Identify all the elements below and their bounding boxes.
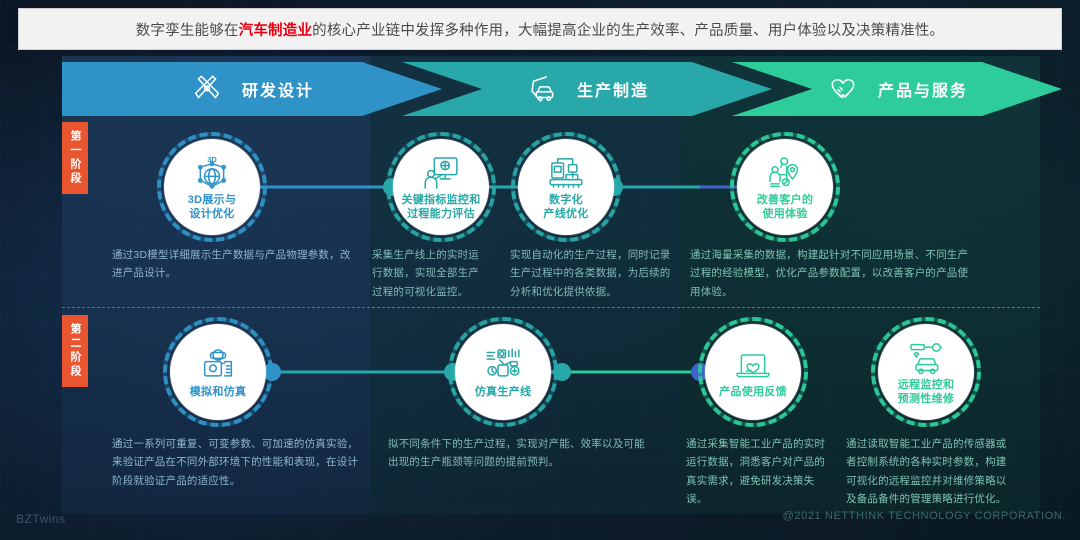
ribbon-label-research: 研发设计 (242, 77, 314, 101)
node-ring-dashed (157, 132, 267, 242)
ribbon-label-product-service: 产品与服务 (878, 77, 968, 101)
ribbon-stage-product-service[interactable]: 产品与服务 (732, 58, 1062, 120)
node-disc: 模拟和仿真 (170, 324, 266, 420)
desc-customer-experience: 通过海量采集的数据，构建起针对不同应用场景、不同生产过程的经验模型，优化产品参数… (690, 246, 978, 301)
phase-divider (62, 307, 1040, 308)
phase-tab-one[interactable]: 第一阶段 (62, 122, 88, 194)
slide-canvas: 数字孪生能够在汽车制造业的核心产业链中发挥多种作用，大幅提高企业的生产效率、产品… (0, 0, 1080, 540)
header-text: 数字孪生能够在汽车制造业的核心产业链中发挥多种作用，大幅提高企业的生产效率、产品… (136, 19, 945, 40)
header-text-after: 的核心产业链中发挥多种作用，大幅提高企业的生产效率、产品质量、用户体验以及决策精… (312, 23, 944, 39)
drafting-tools-icon (190, 72, 224, 106)
desc-simulation: 通过一系列可重复、可变参数、可加速的仿真实验，来验证产品在不同外部环境下的性能和… (112, 435, 362, 490)
stage-ribbon: 研发设计 生产制造 产品与服务 (62, 58, 1062, 120)
ribbon-stage-manufacturing[interactable]: 生产制造 (402, 58, 772, 120)
desc-simulated-production-line: 拟不同条件下的生产过程，实现对产能、效率以及可能出现的生产瓶颈等问题的提前预判。 (388, 435, 646, 472)
node-disc: 数字化 产线优化 (518, 139, 614, 235)
node-disc: 3D 3D展示与 设计优化 (164, 139, 260, 235)
node-disc: 关键指标监控和 过程能力评估 (393, 139, 489, 235)
ribbon-stage-research[interactable]: 研发设计 (62, 58, 442, 120)
node-disc: 产品使用反馈 (705, 324, 801, 420)
node-ring-dashed (698, 317, 808, 427)
ribbon-label-manufacturing: 生产制造 (577, 77, 649, 101)
node-ring-dashed (871, 317, 981, 427)
desc-digital-line: 实现自动化的生产过程，同时记录生产过程中的各类数据，为后续的分析和优化提供依据。 (510, 246, 678, 301)
node-product-feedback[interactable]: 产品使用反馈 (705, 324, 801, 420)
footer-brand: BZTwins (16, 512, 66, 526)
desc-3d-display: 通过3D模型详细展示生产数据与产品物理参数，改进产品设计。 (112, 246, 360, 283)
node-simulation[interactable]: 模拟和仿真 (170, 324, 266, 420)
node-disc: 远程监控和 预测性维修 (878, 324, 974, 420)
node-ring-dashed (730, 132, 840, 242)
handshake-heart-icon (826, 72, 860, 106)
desc-product-feedback: 通过采集智能工业产品的实时运行数据，洞悉客户对产品的真实需求，避免研发决策失误。 (686, 435, 832, 509)
car-shield-icon (525, 72, 559, 106)
node-digital-line[interactable]: 数字化 产线优化 (518, 139, 614, 235)
node-ring-dashed (163, 317, 273, 427)
node-disc: 仿真生产线 (455, 324, 551, 420)
node-3d-display[interactable]: 3D 3D展示与 设计优化 (164, 139, 260, 235)
node-ring-dashed (386, 132, 496, 242)
node-kpi-monitoring[interactable]: 关键指标监控和 过程能力评估 (393, 139, 489, 235)
footer-copyright: @2021 NETTHINK TECHNOLOGY CORPORATION. (783, 510, 1066, 522)
node-remote-maintenance[interactable]: 远程监控和 预测性维修 (878, 324, 974, 420)
header-text-before: 数字孪生能够在 (136, 23, 239, 39)
node-customer-experience[interactable]: 改善客户的 使用体验 (737, 139, 833, 235)
header-banner: 数字孪生能够在汽车制造业的核心产业链中发挥多种作用，大幅提高企业的生产效率、产品… (18, 8, 1062, 50)
node-ring-dashed (448, 317, 558, 427)
node-ring-dashed (511, 132, 621, 242)
desc-kpi-monitoring: 采集生产线上的实时运行数据，实现全部生产过程的可视化监控。 (372, 246, 488, 301)
node-disc: 改善客户的 使用体验 (737, 139, 833, 235)
header-highlight: 汽车制造业 (239, 23, 313, 39)
desc-remote-maintenance: 通过读取智能工业产品的传感器或者控制系统的各种实时参数，构建可视化的远程监控并对… (846, 435, 1008, 509)
phase-tab-two[interactable]: 第二阶段 (62, 315, 88, 387)
node-simulated-production-line[interactable]: 仿真生产线 (455, 324, 551, 420)
